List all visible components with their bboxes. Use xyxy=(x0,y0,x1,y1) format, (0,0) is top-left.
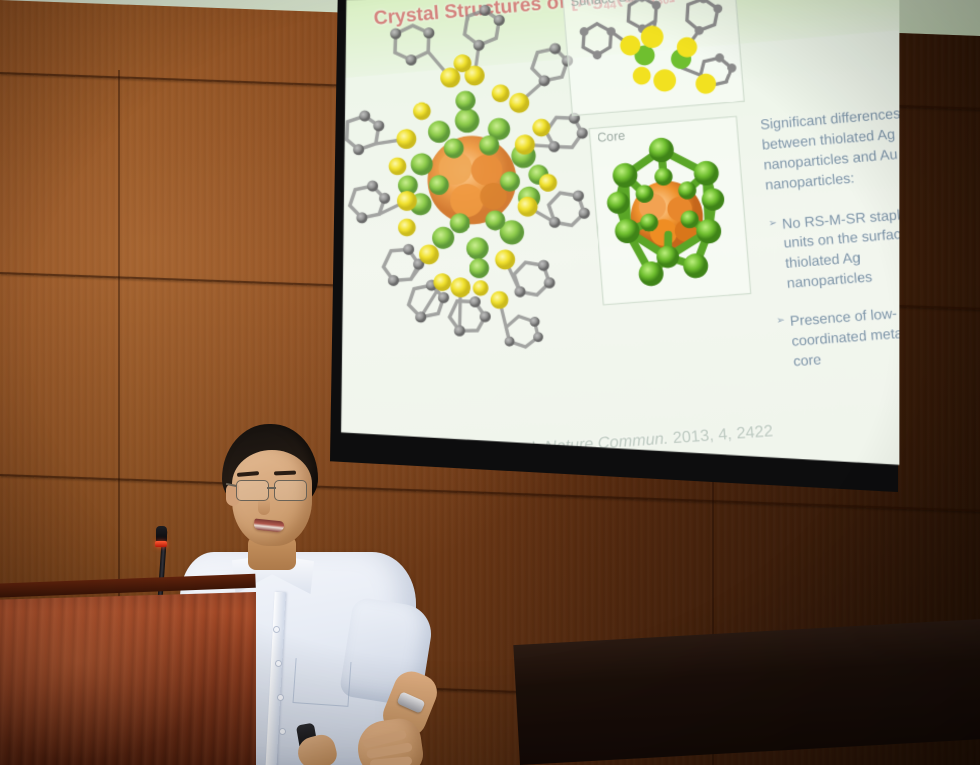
core-structure-inset: Core xyxy=(589,116,752,306)
eyeglass-bridge xyxy=(267,487,276,489)
presentation-photo-scene: ...ter Chemistry as a Molecular Approach… xyxy=(0,0,980,765)
lectern xyxy=(0,592,256,765)
projected-slide: ...ter Chemistry as a Molecular Approach… xyxy=(340,0,899,478)
notes-bullet-2: Presence of low-coordinated metal at the… xyxy=(776,300,900,373)
microphone-head xyxy=(156,526,167,542)
shirt-button-4 xyxy=(279,728,286,735)
citation-rest: 2013, 4, 2422 xyxy=(672,423,774,448)
slide-notes-column: Significant differences between thiolate… xyxy=(760,102,900,392)
surface-structure-svg xyxy=(563,0,744,115)
presenter-shirt-pocket xyxy=(292,658,351,707)
core-structure-svg xyxy=(590,117,750,304)
core-structure-label: Core xyxy=(597,130,626,146)
eyeglasses xyxy=(234,480,314,500)
presenter-eyebrow-right xyxy=(274,471,296,476)
microphone-indicator-led xyxy=(155,541,167,547)
shirt-button-1 xyxy=(273,626,280,633)
surface-structure-inset: Surface Structure xyxy=(562,0,745,116)
notes-bullet-1: No RS-M-SR staple units on the surface o… xyxy=(768,202,900,296)
stage-edge xyxy=(513,619,980,765)
shirt-button-3 xyxy=(277,694,284,701)
eyeglass-lens-right xyxy=(274,480,307,501)
shirt-button-2 xyxy=(275,660,282,667)
presenter-nose xyxy=(258,498,270,515)
notes-lead: Significant differences between thiolate… xyxy=(760,102,900,196)
